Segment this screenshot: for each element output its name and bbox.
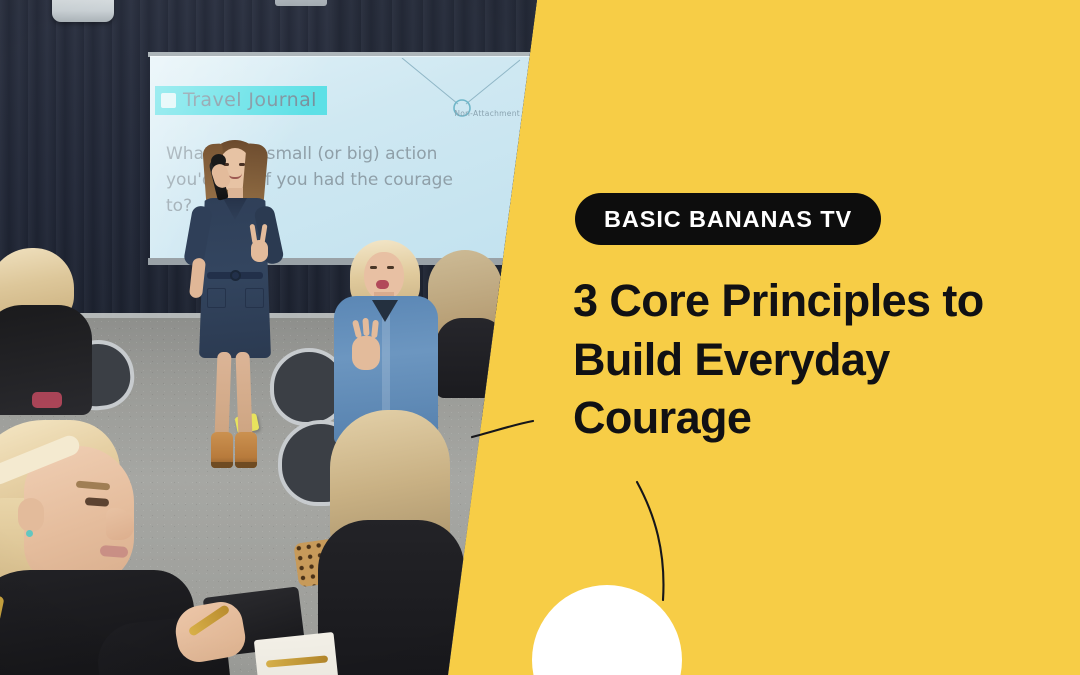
seated-speaker-mouth [376, 280, 389, 289]
seated-speaker-eye-left [370, 266, 377, 269]
presenter-hand-peace-sign [251, 240, 268, 262]
hero-photo: Travel Journal What's one small (or big)… [0, 0, 540, 675]
seated-speaker-hand [352, 336, 380, 370]
foreground-attendee-ear [18, 498, 44, 532]
series-badge-label: BASIC BANANAS TV [604, 206, 852, 233]
audience-member-bag [32, 392, 62, 408]
slide-chip-square-icon [161, 93, 176, 108]
seated-speaker-finger [362, 318, 369, 336]
audience-member-body [318, 520, 464, 675]
slide-title-chip: Travel Journal [155, 86, 327, 115]
thumbnail-canvas: Travel Journal What's one small (or big)… [0, 0, 1080, 675]
seated-speaker-eye-right [387, 266, 394, 269]
non-attachment-diagram-icon [396, 58, 526, 138]
foreground-attendee-earring [26, 530, 33, 537]
presenter-pocket-right [245, 288, 264, 308]
photo-scene: Travel Journal What's one small (or big)… [0, 0, 540, 675]
notepad [254, 632, 338, 675]
foreground-attendee-eye [85, 497, 109, 507]
series-badge[interactable]: BASIC BANANAS TV [575, 193, 881, 245]
slide-title-text: Travel Journal [183, 89, 317, 111]
foreground-attendee-figure [0, 420, 290, 675]
ceiling-speaker-icon [52, 0, 114, 22]
diagram-label: Non-Attachment [454, 109, 520, 118]
page-title: 3 Core Principles to Build Everyday Cour… [573, 272, 1080, 448]
ceiling-light-icon [275, 0, 327, 6]
presenter-pocket-left [207, 288, 226, 308]
foreground-attendee-lips [100, 545, 129, 558]
presenter-belt-buckle [230, 270, 241, 281]
